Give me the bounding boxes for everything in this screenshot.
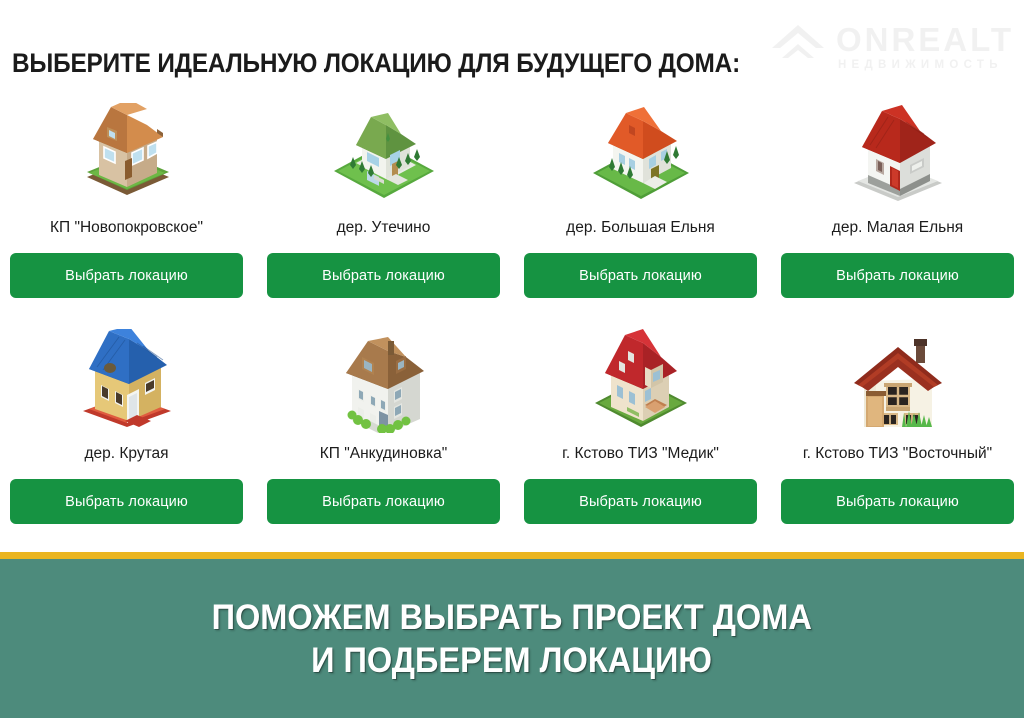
location-label: дер. Большая Ельня	[566, 217, 715, 239]
select-location-button[interactable]: Выбрать локацию	[524, 479, 757, 524]
location-label: г. Кстово ТИЗ "Восточный"	[803, 443, 992, 465]
location-card: дер. Большая Ельня Выбрать локацию	[524, 103, 757, 298]
location-label: КП "Новопокровское"	[50, 217, 203, 239]
house-isometric-orange-roof-icon	[524, 103, 757, 207]
house-white-red-roof-icon	[781, 103, 1014, 207]
select-location-button[interactable]: Выбрать локацию	[267, 479, 500, 524]
house-beige-brown-roof-icon	[10, 103, 243, 207]
location-card: дер. Утечино Выбрать локацию	[267, 103, 500, 298]
location-card: г. Кстово ТИЗ "Медик" Выбрать локацию	[524, 329, 757, 524]
select-location-button[interactable]: Выбрать локацию	[524, 253, 757, 298]
watermark-brand: ONREALT	[836, 23, 1014, 56]
house-chevron-icon	[770, 22, 826, 72]
location-card: дер. Малая Ельня Выбрать локацию	[781, 103, 1014, 298]
house-two-story-brown-roof-icon	[267, 329, 500, 433]
location-label: дер. Крутая	[84, 443, 168, 465]
row-spacer	[10, 298, 1014, 329]
locations-grid: КП "Новопокровское" Выбрать локацию	[10, 103, 1014, 524]
location-card: КП "Анкудиновка" Выбрать локацию	[267, 329, 500, 524]
house-isometric-red-roof-icon	[524, 329, 757, 433]
promo-page: ONREALT НЕДВИЖИМОСТЬ ВЫБЕРИТЕ ИДЕАЛЬНУЮ …	[0, 0, 1024, 718]
house-isometric-green-roof-icon	[267, 103, 500, 207]
select-location-button[interactable]: Выбрать локацию	[10, 253, 243, 298]
location-label: дер. Утечино	[337, 217, 431, 239]
bottom-banner: ПОМОЖЕМ ВЫБРАТЬ ПРОЕКТ ДОМА И ПОДБЕРЕМ Л…	[0, 552, 1024, 718]
location-label: дер. Малая Ельня	[832, 217, 963, 239]
watermark: ONREALT НЕДВИЖИМОСТЬ	[770, 22, 1014, 72]
house-cream-dark-red-roof-icon	[781, 329, 1014, 433]
banner-line-1: ПОМОЖЕМ ВЫБРАТЬ ПРОЕКТ ДОМА	[212, 597, 812, 640]
select-location-button[interactable]: Выбрать локацию	[10, 479, 243, 524]
location-label: г. Кстово ТИЗ "Медик"	[562, 443, 719, 465]
banner-line-2: И ПОДБЕРЕМ ЛОКАЦИЮ	[312, 640, 713, 683]
location-card: дер. Крутая Выбрать локацию	[10, 329, 243, 524]
location-label: КП "Анкудиновка"	[320, 443, 447, 465]
select-location-button[interactable]: Выбрать локацию	[781, 479, 1014, 524]
location-card: КП "Новопокровское" Выбрать локацию	[10, 103, 243, 298]
house-yellow-blue-roof-icon	[10, 329, 243, 433]
select-location-button[interactable]: Выбрать локацию	[781, 253, 1014, 298]
page-title: ВЫБЕРИТЕ ИДЕАЛЬНУЮ ЛОКАЦИЮ ДЛЯ БУДУЩЕГО …	[12, 48, 740, 79]
location-card: г. Кстово ТИЗ "Восточный" Выбрать локаци…	[781, 329, 1014, 524]
watermark-tagline: НЕДВИЖИМОСТЬ	[838, 60, 1014, 72]
select-location-button[interactable]: Выбрать локацию	[267, 253, 500, 298]
